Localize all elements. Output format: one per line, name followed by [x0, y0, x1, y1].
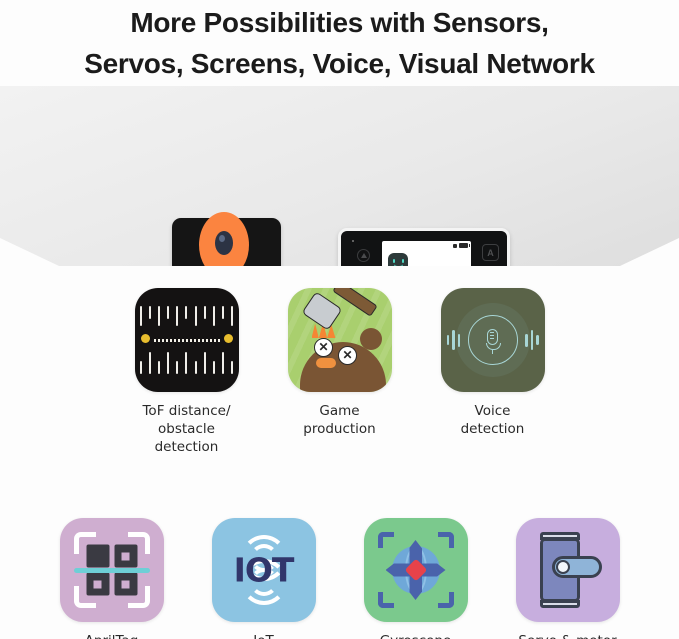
hero-panel: A O B Core	[0, 86, 679, 266]
iot-wifi-icon: IOT	[212, 518, 316, 622]
dpad-left-button[interactable]	[347, 269, 360, 282]
battery-icon	[459, 243, 468, 248]
featured-app[interactable]: Core	[388, 253, 418, 278]
button-a[interactable]: A	[482, 244, 499, 261]
ruler-measure-icon	[135, 288, 239, 392]
feature-row-1: ToF distance/ obstacle detection ✕ ✕ Gam…	[0, 288, 679, 456]
signal-icon	[453, 244, 457, 248]
camera-lens-icon	[215, 231, 233, 255]
feature-label-apriltag: AprilTag	[57, 632, 167, 639]
smiley-face-icon	[388, 253, 408, 273]
page-title-line-1: More Possibilities with Sensors,	[0, 2, 679, 43]
feature-label-tof: ToF distance/ obstacle detection	[132, 402, 242, 456]
feature-gyroscope[interactable]: Gyroscope	[361, 518, 471, 639]
screen-divider	[386, 279, 467, 280]
servo-motor-icon	[516, 518, 620, 622]
feature-row-2: AprilTag IOT IoT Gyr	[0, 518, 679, 639]
gyroscope-crosshair-icon	[364, 518, 468, 622]
feature-tof[interactable]: ToF distance/ obstacle detection	[132, 288, 242, 456]
qr-scan-icon	[60, 518, 164, 622]
iot-text: IOT	[234, 551, 294, 590]
feature-label-gyroscope: Gyroscope	[361, 632, 471, 639]
feature-game[interactable]: ✕ ✕ Game production	[285, 288, 395, 456]
dpad-up-button[interactable]	[357, 249, 370, 262]
feature-apriltag[interactable]: AprilTag	[57, 518, 167, 639]
page-title-line-2: Servos, Screens, Voice, Visual Network	[0, 43, 679, 84]
status-bar	[453, 243, 468, 248]
button-o[interactable]: O	[482, 269, 499, 286]
feature-grid: ToF distance/ obstacle detection ✕ ✕ Gam…	[0, 288, 679, 639]
page-title: More Possibilities with Sensors, Servos,…	[0, 0, 679, 84]
microphone-waveform-icon	[441, 288, 545, 392]
featured-app-label: Core	[388, 274, 408, 278]
feature-iot[interactable]: IOT IoT	[209, 518, 319, 639]
whack-a-mole-icon: ✕ ✕	[288, 288, 392, 392]
dpad-right-button[interactable]	[366, 269, 379, 282]
feature-label-iot: IoT	[209, 632, 319, 639]
product-feature-page: More Possibilities with Sensors, Servos,…	[0, 0, 679, 639]
feature-label-game: Game production	[285, 402, 395, 438]
screw-dot-top-left	[352, 240, 354, 242]
feature-servo[interactable]: Servo & motor	[513, 518, 623, 639]
feature-voice[interactable]: Voice detection	[438, 288, 548, 456]
feature-label-servo: Servo & motor	[513, 632, 623, 639]
feature-label-voice: Voice detection	[438, 402, 548, 438]
